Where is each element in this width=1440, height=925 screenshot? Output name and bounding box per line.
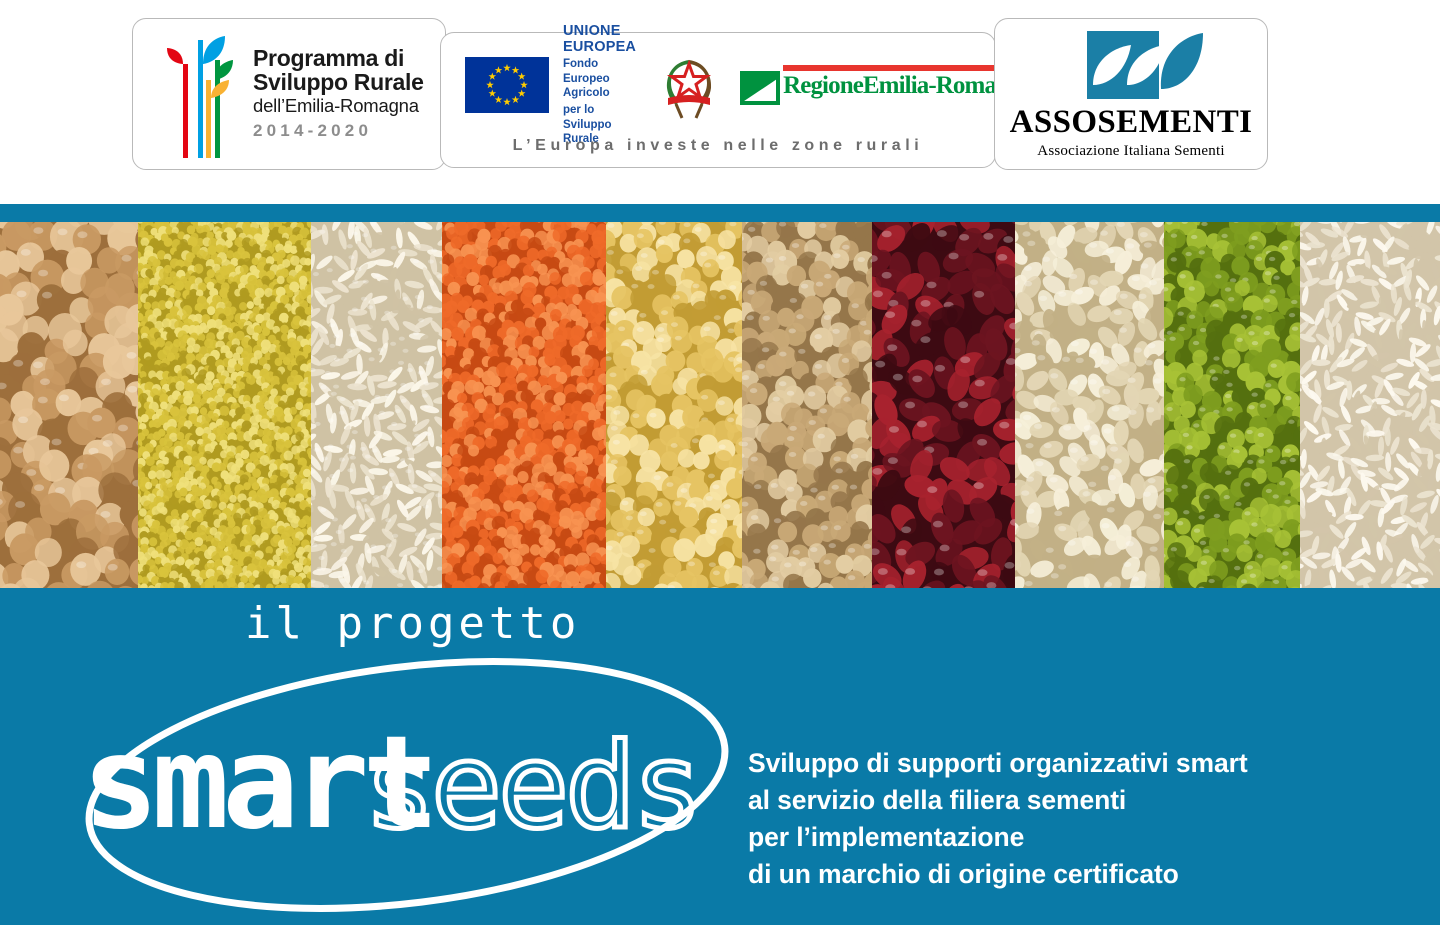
tagline-line-3: per l’implementazione [748, 819, 1248, 856]
regione-shield-icon [740, 71, 780, 105]
seed-column-white-rice-1 [311, 222, 442, 588]
eu-caption: L’Europa investe nelle zone rurali [441, 137, 995, 155]
regione-emilia-romagna-logo: RegioneEmilia-Romagna [740, 65, 1032, 105]
psr-years: 2014-2020 [253, 121, 424, 141]
banner-kicker: il progetto [245, 598, 580, 649]
assosementi-logo-box: ASSOSEMENTI Associazione Italiana Sement… [994, 18, 1268, 170]
italian-republic-emblem-icon [656, 50, 722, 120]
project-tagline: Sviluppo di supporti organizzativi smart… [748, 745, 1248, 893]
seed-column-rolled-oats [1015, 222, 1165, 588]
smartseeds-logo: smart seeds [62, 655, 752, 915]
seed-column-millet [138, 222, 311, 588]
assosementi-subtitle: Associazione Italiana Sementi [1037, 143, 1224, 160]
psr-title-line2: Sviluppo Rurale [253, 71, 424, 95]
tagline-line-1: Sviluppo di supporti organizzativi smart [748, 745, 1248, 782]
regione-red-bar [783, 65, 1027, 71]
top-blue-rule [0, 204, 1440, 222]
poster-root: Programma di Sviluppo Rurale dell’Emilia… [0, 0, 1440, 925]
logo-header: Programma di Sviluppo Rurale dell’Emilia… [0, 0, 1440, 204]
eu-title: UNIONE EUROPEA [563, 23, 636, 55]
psr-title-line1: Programma di [253, 47, 424, 71]
seed-column-chickpeas [0, 222, 138, 588]
eu-funding-logo-box: UNIONE EUROPEA Fondo Europeo Agricolo pe… [440, 32, 996, 168]
seed-column-dark-kidney-beans [872, 222, 1014, 588]
seed-column-yellow-split-peas [606, 222, 742, 588]
european-union-flag-icon [465, 57, 549, 113]
psr-plant-mark-icon [163, 30, 235, 158]
seed-column-red-lentils [442, 222, 606, 588]
tagline-line-4: di un marchio di origine certificato [748, 856, 1248, 893]
seed-column-mung-beans [1164, 222, 1300, 588]
eu-subtitle-line1: Fondo Europeo Agricolo [563, 57, 636, 101]
psr-logo-box: Programma di Sviluppo Rurale dell’Emilia… [132, 18, 446, 170]
assosementi-leaves-icon [1053, 29, 1209, 101]
psr-region: dell’Emilia-Romagna [253, 96, 424, 117]
tagline-line-2: al servizio della filiera sementi [748, 782, 1248, 819]
seed-column-brown-lentils [742, 222, 873, 588]
seed-column-white-rice-2 [1300, 222, 1440, 588]
assosementi-name: ASSOSEMENTI [1010, 106, 1253, 139]
seed-varieties-photo [0, 222, 1440, 588]
